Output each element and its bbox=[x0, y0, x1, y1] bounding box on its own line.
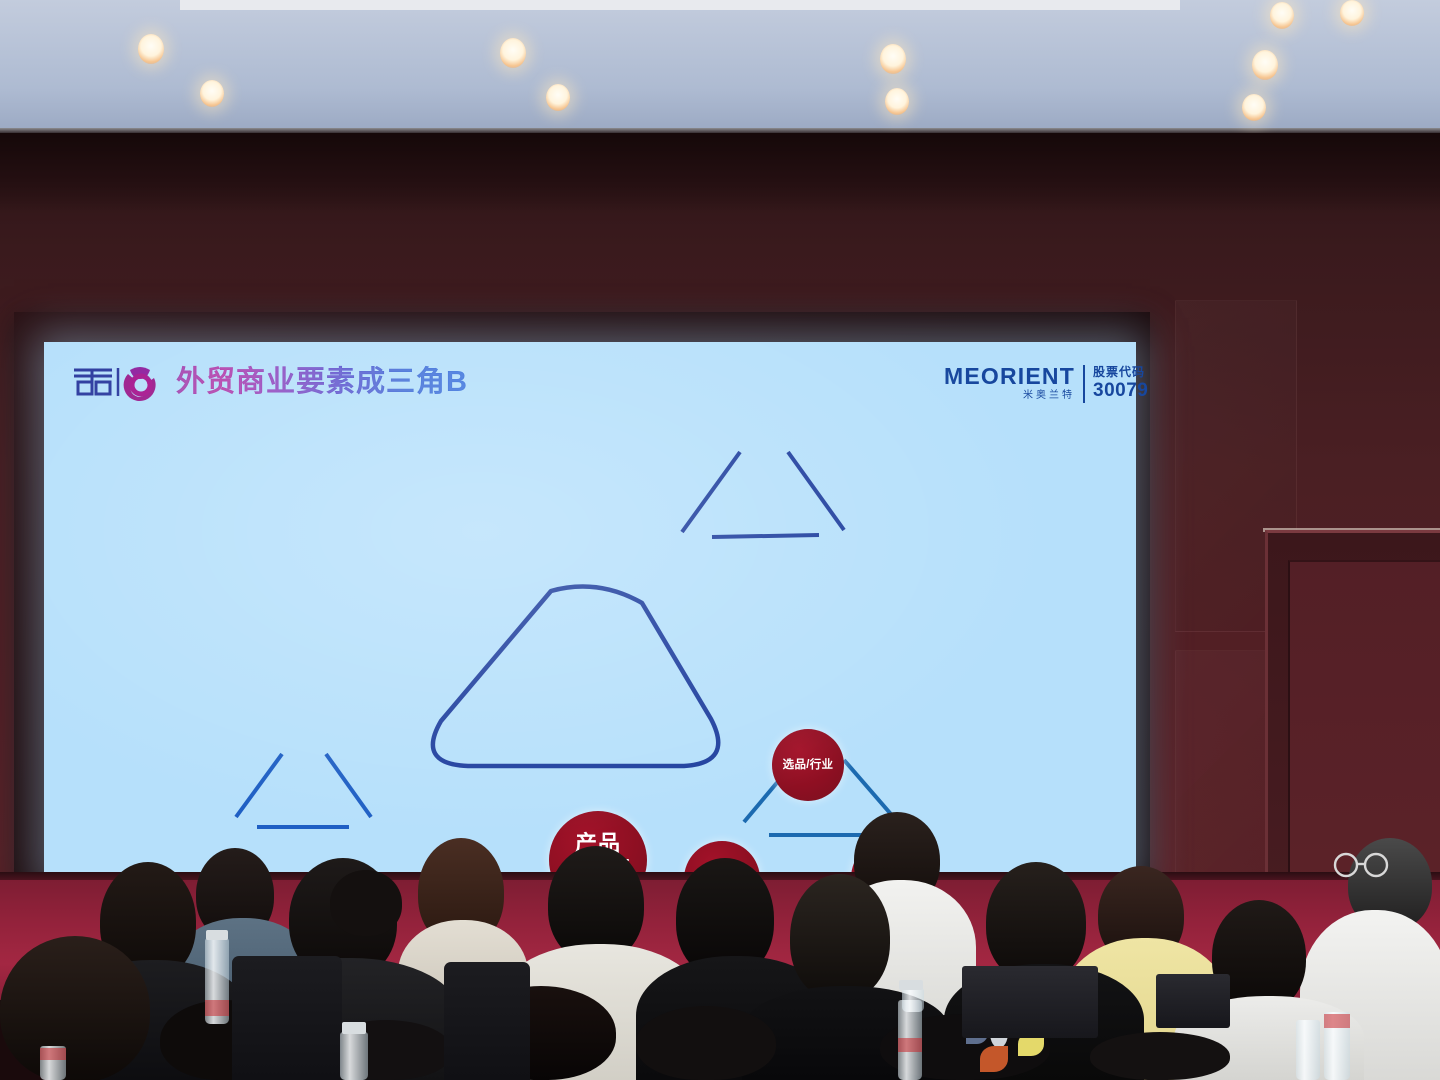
node-product-top[interactable]: 选品/行业 bbox=[772, 729, 844, 801]
conference-room-scene: 产品 经营 选品/行业 市场/客户 供应链/生态 营业额 利润 团队 bbox=[0, 0, 1440, 1080]
water-bottle bbox=[902, 988, 924, 1012]
stock-code-number: 30079 bbox=[1093, 380, 1148, 402]
downlight-icon bbox=[1252, 50, 1278, 80]
brand-wordmark: MEORIENT bbox=[944, 364, 1075, 389]
laptop bbox=[962, 966, 1098, 1038]
page-title: 外贸商业要素成三角B bbox=[176, 360, 468, 404]
water-bottle bbox=[1296, 1020, 1320, 1080]
audience-head bbox=[330, 870, 402, 936]
brand-divider bbox=[1083, 365, 1085, 403]
downlight-icon bbox=[1242, 94, 1266, 121]
bottle-cap bbox=[206, 930, 228, 940]
brand-logo: MEORIENT 米奥兰特 股票代码 30079 bbox=[944, 364, 1148, 403]
ceiling bbox=[0, 0, 1440, 135]
downlight-icon bbox=[885, 88, 909, 115]
bottle-label bbox=[205, 1000, 229, 1016]
node-label: 选品/行业 bbox=[783, 759, 834, 772]
downlight-icon bbox=[500, 38, 526, 68]
wall-shadow bbox=[0, 133, 1440, 213]
audience-head bbox=[790, 874, 890, 1000]
bottle-cap bbox=[899, 980, 923, 990]
chair-back bbox=[232, 956, 342, 1080]
audience-head bbox=[0, 936, 150, 1080]
bottle-label bbox=[1324, 1014, 1350, 1028]
laptop bbox=[1156, 974, 1230, 1028]
flower-decoration bbox=[980, 1046, 1008, 1072]
bottle-label bbox=[40, 1048, 66, 1060]
presentation-screen[interactable]: 产品 经营 选品/行业 市场/客户 供应链/生态 营业额 利润 团队 bbox=[44, 342, 1136, 882]
downlight-icon bbox=[880, 44, 906, 74]
bottle-cap bbox=[342, 1022, 366, 1034]
downlight-icon bbox=[546, 84, 570, 111]
bottle-label bbox=[898, 1038, 922, 1052]
downlight-icon bbox=[1270, 2, 1294, 29]
stock-code-label: 股票代码 bbox=[1093, 364, 1148, 380]
chair-back bbox=[444, 962, 530, 1080]
downlight-icon bbox=[138, 34, 164, 64]
audience-head bbox=[636, 1006, 776, 1080]
audience-head bbox=[1090, 1032, 1230, 1080]
downlight-icon bbox=[200, 80, 224, 107]
glasses-icon bbox=[1330, 852, 1400, 878]
ceiling-light-cove bbox=[180, 0, 1180, 10]
brand-wordmark-cn: 米奥兰特 bbox=[1023, 389, 1075, 403]
water-bottle bbox=[340, 1032, 368, 1080]
downlight-icon bbox=[1340, 0, 1364, 26]
